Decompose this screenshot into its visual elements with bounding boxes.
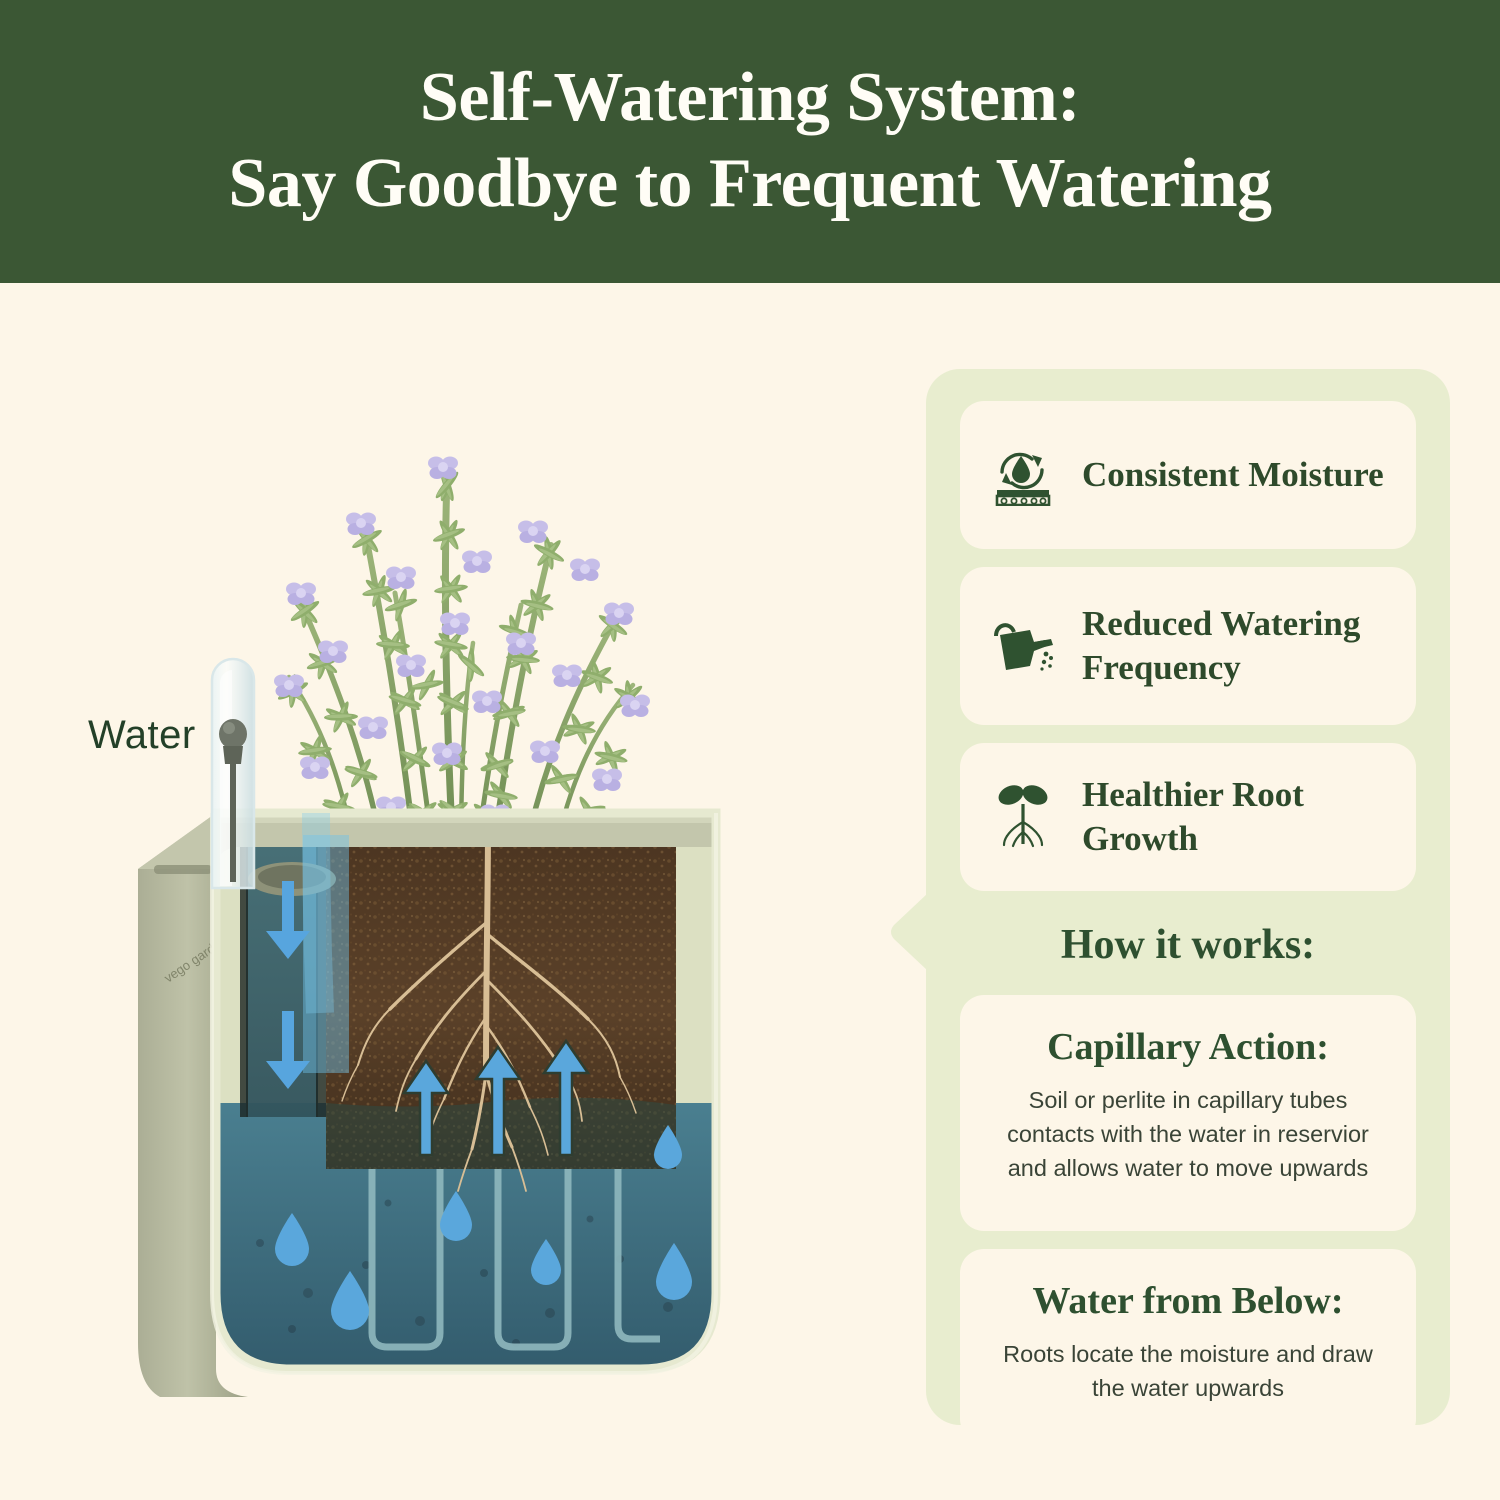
page-title-line-1: Self-Watering System:: [420, 56, 1080, 140]
feature-label-line-1: Reduced Watering: [1082, 604, 1360, 643]
gauge-float: [219, 719, 247, 749]
step-card-capillary-action[interactable]: Capillary Action: Soil or perlite in cap…: [960, 995, 1416, 1231]
step-body-capillary-action: Soil or perlite in capillary tubes conta…: [994, 1083, 1382, 1185]
page-title-line-2: Say Goodbye to Frequent Watering: [228, 140, 1271, 228]
how-it-works-heading: How it works:: [926, 921, 1450, 969]
moisture-cycle-icon: [986, 438, 1060, 512]
feature-label-healthier-root-growth: Healthier Root Growth: [1082, 773, 1416, 861]
self-watering-planter-illustration: Water: [60, 343, 890, 1453]
content-stage: Water: [0, 283, 1500, 1500]
feature-card-consistent-moisture[interactable]: Consistent Moisture: [960, 401, 1416, 549]
page-header: Self-Watering System: Say Goodbye to Fre…: [0, 0, 1500, 283]
watering-can-icon: [986, 609, 1060, 683]
feature-card-healthier-root-growth[interactable]: Healthier Root Growth: [960, 743, 1416, 891]
step-card-water-from-below[interactable]: Water from Below: Roots locate the moist…: [960, 1249, 1416, 1443]
step-body-water-from-below: Roots locate the moisture and draw the w…: [994, 1337, 1382, 1405]
feature-label-reduced-watering: Reduced Watering Frequency: [1082, 602, 1360, 690]
water-level-gauge: [198, 638, 268, 898]
step-title-water-from-below: Water from Below:: [994, 1275, 1382, 1327]
benefits-panel: Consistent Moisture Reduced Watering: [926, 369, 1450, 1425]
water-label: Water: [88, 713, 196, 758]
feature-label-consistent-moisture: Consistent Moisture: [1082, 453, 1384, 497]
panel-pointer-tail: [890, 889, 928, 975]
seedling-roots-icon: [986, 780, 1060, 854]
step-title-capillary-action: Capillary Action:: [994, 1021, 1382, 1073]
feature-label-line-2: Frequency: [1082, 648, 1241, 687]
feature-card-reduced-watering[interactable]: Reduced Watering Frequency: [960, 567, 1416, 725]
